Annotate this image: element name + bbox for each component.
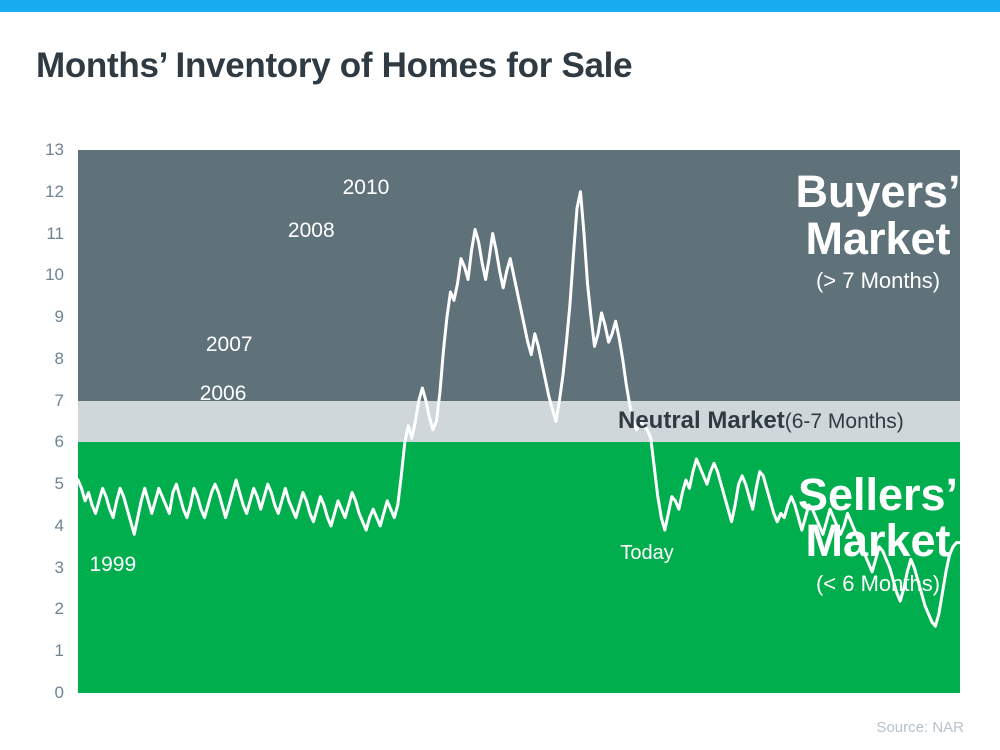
annotation-2006: 2006 <box>200 382 247 406</box>
sellers-market-title-line2: Market <box>718 518 960 565</box>
neutral-market-title: Neutral Market <box>618 407 785 434</box>
chart-plot-area: Buyers’ Market (> 7 Months) Neutral Mark… <box>78 150 960 693</box>
annotation-2007: 2007 <box>206 333 253 357</box>
sellers-market-subtitle: (< 6 Months) <box>718 571 960 597</box>
y-axis-tick-3: 3 <box>55 558 64 578</box>
source-attribution: Source: NAR <box>876 719 964 736</box>
y-axis-tick-7: 7 <box>55 391 64 411</box>
y-axis-tick-12: 12 <box>45 182 64 202</box>
buyers-market-title-line2: Market <box>718 216 960 263</box>
y-axis-tick-13: 13 <box>45 140 64 160</box>
y-axis-tick-2: 2 <box>55 599 64 619</box>
buyers-market-subtitle: (> 7 Months) <box>718 268 960 294</box>
sellers-market-label: Sellers’ Market (< 6 Months) <box>718 472 960 598</box>
annotation-2010: 2010 <box>343 176 390 200</box>
buyers-market-label: Buyers’ Market (> 7 Months) <box>718 169 960 295</box>
chart-page: Months’ Inventory of Homes for Sale 0123… <box>0 0 1000 750</box>
neutral-market-subtitle: (6-7 Months) <box>785 410 904 433</box>
annotation-1999: 1999 <box>89 553 136 577</box>
y-axis-tick-0: 0 <box>55 683 64 703</box>
sellers-market-title-line1: Sellers’ <box>718 472 960 519</box>
buyers-market-title-line1: Buyers’ <box>718 169 960 216</box>
y-axis-tick-10: 10 <box>45 265 64 285</box>
y-axis-tick-5: 5 <box>55 474 64 494</box>
annotation-2008: 2008 <box>288 219 335 243</box>
top-accent-bar <box>0 0 1000 12</box>
y-axis: 012345678910111213 <box>0 150 78 693</box>
y-axis-tick-9: 9 <box>55 307 64 327</box>
y-axis-tick-11: 11 <box>46 224 64 244</box>
y-axis-tick-4: 4 <box>55 516 64 536</box>
y-axis-tick-1: 1 <box>55 641 64 661</box>
y-axis-tick-6: 6 <box>55 432 64 452</box>
neutral-market-label: Neutral Market(6-7 Months) <box>618 407 904 435</box>
y-axis-tick-8: 8 <box>55 349 64 369</box>
annotation-today: Today <box>620 542 673 565</box>
page-title: Months’ Inventory of Homes for Sale <box>36 46 632 86</box>
